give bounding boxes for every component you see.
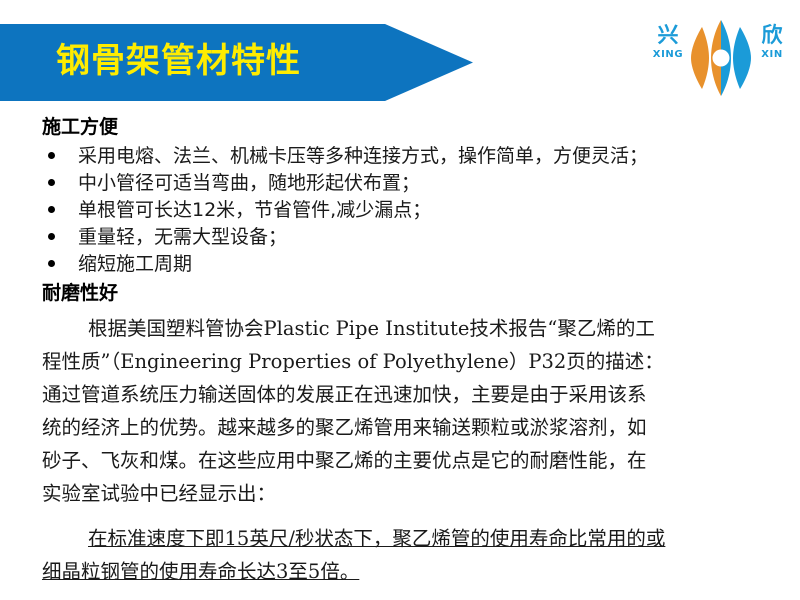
logo-left-en: XING bbox=[645, 48, 691, 62]
section-heading-construction: 施工方便 bbox=[42, 114, 800, 140]
paragraph-line: 在标准速度下即15英尺/秒状态下，聚乙烯管的使用寿命比常用的或 bbox=[42, 522, 758, 555]
bullet-dot-icon bbox=[48, 179, 55, 186]
bullet-dot-icon bbox=[48, 206, 55, 213]
paragraph-service-life: 在标准速度下即15英尺/秒状态下，聚乙烯管的使用寿命比常用的或 细晶粒钢管的使用… bbox=[42, 522, 758, 588]
logo-left-text: 兴 XING bbox=[645, 22, 691, 62]
logo-right-cn: 欣 bbox=[749, 22, 795, 48]
list-item: 缩短施工周期 bbox=[48, 251, 800, 278]
logo-right-text: 欣 XIN bbox=[749, 22, 795, 62]
bullet-dot-icon bbox=[48, 152, 55, 159]
bullet-dot-icon bbox=[48, 260, 55, 267]
slide-body: 施工方便 采用电熔、法兰、机械卡压等多种连接方式，操作简单，方便灵活； 中小管径… bbox=[0, 106, 800, 588]
list-item: 重量轻，无需大型设备； bbox=[48, 224, 800, 251]
logo-right-en: XIN bbox=[749, 48, 795, 62]
list-item-text: 单根管可长达12米，节省管件,减少漏点； bbox=[78, 199, 431, 221]
list-item: 中小管径可适当弯曲，随地形起伏布置； bbox=[48, 170, 800, 197]
list-item: 单根管可长达12米，节省管件,减少漏点； bbox=[48, 197, 800, 224]
slide-canvas: 钢骨架管材特性 兴 XING 欣 XIN bbox=[0, 0, 800, 600]
bullet-dot-icon bbox=[48, 233, 55, 240]
feature-bullet-list: 采用电熔、法兰、机械卡压等多种连接方式，操作简单，方便灵活； 中小管径可适当弯曲… bbox=[0, 143, 800, 278]
list-item: 采用电熔、法兰、机械卡压等多种连接方式，操作简单，方便灵活； bbox=[48, 143, 800, 170]
page-title: 钢骨架管材特性 bbox=[56, 36, 386, 86]
list-item-text: 中小管径可适当弯曲，随地形起伏布置； bbox=[78, 172, 420, 194]
paragraph-line: 砂子、飞灰和煤。在这些应用中聚乙烯的主要优点是它的耐磨性能，在 bbox=[42, 444, 758, 477]
company-logo: 兴 XING 欣 XIN bbox=[645, 18, 795, 100]
paragraph-ppi-report: 根据美国塑料管协会Plastic Pipe Institute技术报告“聚乙烯的… bbox=[42, 312, 758, 510]
section-heading-wear-resistance: 耐磨性好 bbox=[42, 280, 800, 306]
list-item-text: 采用电熔、法兰、机械卡压等多种连接方式，操作简单，方便灵活； bbox=[78, 145, 648, 167]
list-item-text: 重量轻，无需大型设备； bbox=[78, 226, 287, 248]
logo-left-cn: 兴 bbox=[645, 22, 691, 48]
logo-emblem-icon bbox=[689, 18, 753, 98]
paragraph-line: 实验室试验中已经显示出： bbox=[42, 477, 758, 510]
paragraph-line: 根据美国塑料管协会Plastic Pipe Institute技术报告“聚乙烯的… bbox=[42, 312, 758, 345]
paragraph-line: 统的经济上的优势。越来越多的聚乙烯管用来输送颗粒或淤浆溶剂，如 bbox=[42, 411, 758, 444]
paragraph-line: 程性质”（Engineering Properties of Polyethyl… bbox=[42, 345, 758, 378]
list-item-text: 缩短施工周期 bbox=[78, 253, 192, 275]
paragraph-line: 细晶粒钢管的使用寿命长达3至5倍。 bbox=[42, 555, 758, 588]
paragraph-line: 通过管道系统压力输送固体的发展正在迅速加快，主要是由于采用该系 bbox=[42, 378, 758, 411]
